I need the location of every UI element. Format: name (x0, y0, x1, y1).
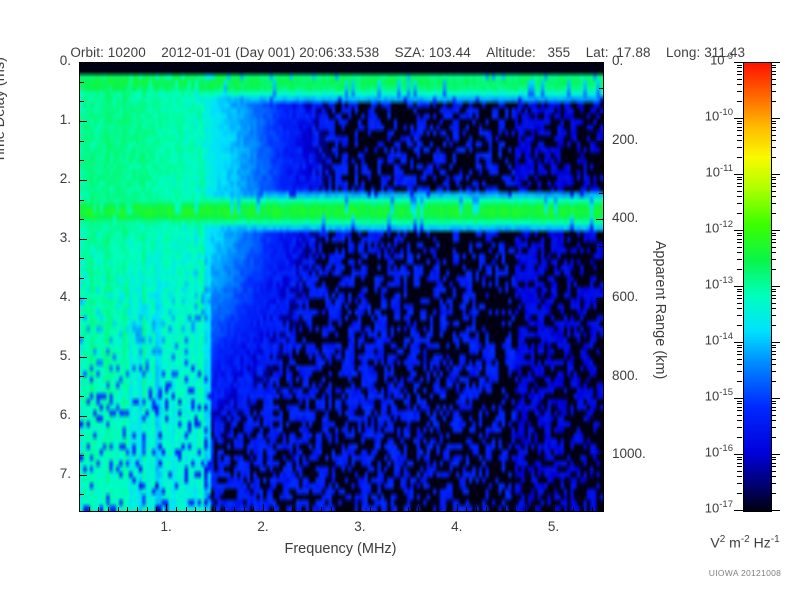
x-tick-minor (118, 507, 119, 511)
x-tick-minor (592, 507, 593, 511)
colorbar-tick-major (734, 174, 743, 175)
y-tick-minor (80, 494, 84, 495)
colorbar-tick-minor (737, 252, 742, 253)
colorbar-tick-minor (771, 347, 776, 348)
y2-tick-label: 1000. (612, 446, 672, 461)
y-tick-minor (80, 396, 84, 397)
colorbar-tick-minor (737, 67, 742, 68)
colorbar-tick-minor (771, 289, 776, 290)
colorbar-tick-minor (771, 463, 776, 464)
colorbar-tick-minor (771, 67, 776, 68)
y2-tick-label: 0. (612, 53, 672, 68)
colorbar-tick-minor (771, 459, 776, 460)
colorbar-tick-minor (737, 183, 742, 184)
colorbar-tick-minor (737, 410, 742, 411)
x-tick-minor (321, 507, 322, 511)
y-tick-label: 4. (23, 289, 71, 304)
colorbar-tick-minor (771, 420, 776, 421)
colorbar-unit-label: V2 m-2 Hz-1 (690, 534, 800, 551)
x-tick-minor (195, 507, 196, 511)
cb-mantissa: 10 (705, 108, 719, 123)
colorbar-tick-minor (737, 298, 742, 299)
colorbar-tick-label: 10-13 (675, 275, 733, 291)
y-tick-major (80, 180, 87, 181)
colorbar-tick-minor (737, 403, 742, 404)
x-tick-major (166, 504, 167, 511)
colorbar-tick-minor (771, 179, 776, 180)
colorbar-tick-minor (771, 315, 776, 316)
colorbar-tick-minor (771, 298, 776, 299)
x-tick-minor (244, 507, 245, 511)
colorbar-tick-minor (771, 407, 776, 408)
colorbar-tick-minor (737, 364, 742, 365)
y-tick-major (80, 298, 87, 299)
colorbar-tick-minor (771, 269, 776, 270)
colorbar-tick-label: 10-11 (675, 163, 733, 179)
colorbar-tick-minor (737, 191, 742, 192)
y2-tick-minor (599, 114, 603, 115)
x-tick-minor (408, 507, 409, 511)
colorbar-tick-minor (737, 308, 742, 309)
colorbar-tick-minor (737, 407, 742, 408)
colorbar-tick-minor (771, 252, 776, 253)
credit-text: UIOWA 20121008 (690, 568, 800, 578)
y-tick-minor (80, 82, 84, 83)
cb-exponent: -10 (719, 107, 733, 118)
cb-exponent: -17 (719, 499, 733, 510)
y2-tick-minor (599, 272, 603, 273)
x-tick-minor (205, 507, 206, 511)
y2-tick-minor (599, 246, 603, 247)
x-tick-minor (437, 507, 438, 511)
x-tick-minor (234, 507, 235, 511)
x-tick-minor (583, 507, 584, 511)
x-tick-minor (525, 507, 526, 511)
colorbar-tick-minor (771, 157, 776, 158)
colorbar-tick-minor (737, 493, 742, 494)
colorbar-tick-major (734, 398, 743, 399)
header-orbit-label: Orbit: (70, 45, 104, 60)
colorbar-tick-minor (771, 259, 776, 260)
y-tick-major (80, 121, 87, 122)
y2-tick-major (596, 219, 603, 220)
colorbar-tick-minor (771, 127, 776, 128)
header-altitude-value: 355 (547, 45, 570, 60)
colorbar-tick-minor (771, 130, 776, 131)
colorbar-tick-minor (737, 457, 742, 458)
cb-exponent: -14 (719, 331, 733, 342)
x-tick-minor (370, 507, 371, 511)
colorbar-tick-minor (771, 123, 776, 124)
colorbar-tick-minor (771, 203, 776, 204)
colorbar-tick-minor (737, 466, 742, 467)
colorbar-tick-major (771, 398, 780, 399)
header-date: 2012-01-01 (161, 45, 231, 60)
x-tick-minor (331, 507, 332, 511)
colorbar-tick-minor (737, 471, 742, 472)
ionogram-plot-area (79, 62, 604, 512)
x-tick-minor (399, 507, 400, 511)
colorbar-tick-minor (771, 354, 776, 355)
unit-m-exp: -2 (741, 534, 750, 545)
cb-mantissa: 10 (705, 276, 719, 291)
x-tick-minor (224, 507, 225, 511)
colorbar-tick-minor (771, 371, 776, 372)
y-tick-minor (80, 160, 84, 161)
colorbar-tick-major (771, 62, 780, 63)
colorbar-tick-minor (771, 74, 776, 75)
y-axis-title: Time Delay (ms) (0, 10, 8, 210)
y-tick-label: 1. (23, 112, 71, 127)
y-tick-major (80, 357, 87, 358)
colorbar-tick-major (734, 286, 743, 287)
cb-mantissa: 10 (705, 332, 719, 347)
x-tick-minor (515, 507, 516, 511)
colorbar-tick-minor (737, 123, 742, 124)
colorbar-tick-minor (771, 471, 776, 472)
colorbar-tick-minor (771, 483, 776, 484)
y-tick-minor (80, 278, 84, 279)
y2-tick-major (596, 62, 603, 63)
colorbar-tick-minor (771, 466, 776, 467)
x-tick-label: 4. (427, 519, 487, 534)
cb-mantissa: 10 (705, 444, 719, 459)
header-time: 20:06:33.538 (299, 45, 379, 60)
y2-tick-label: 200. (612, 132, 672, 147)
x-tick-minor (302, 507, 303, 511)
y-tick-minor (80, 337, 84, 338)
header-sza-value: 103.44 (429, 45, 471, 60)
colorbar-tick-minor (771, 401, 776, 402)
colorbar-tick-major (771, 454, 780, 455)
colorbar-tick-minor (771, 457, 776, 458)
colorbar-tick-major (771, 174, 780, 175)
colorbar-tick-major (734, 62, 743, 63)
colorbar-tick-minor (771, 325, 776, 326)
x-tick-minor (127, 507, 128, 511)
x-tick-minor (350, 507, 351, 511)
x-tick-minor (108, 507, 109, 511)
y-tick-major (80, 239, 87, 240)
colorbar-tick-minor (737, 371, 742, 372)
y-tick-label: 6. (23, 407, 71, 422)
colorbar-tick-minor (771, 71, 776, 72)
colorbar-tick-minor (737, 347, 742, 348)
colorbar-tick-minor (737, 289, 742, 290)
x-tick-minor (534, 507, 535, 511)
unit-hz-exp: -1 (771, 534, 780, 545)
colorbar-tick-minor (771, 140, 776, 141)
colorbar-tick-minor (737, 71, 742, 72)
y2-tick-minor (599, 167, 603, 168)
x-tick-minor (215, 507, 216, 511)
x-tick-minor (389, 507, 390, 511)
colorbar-tick-label: 10-10 (675, 107, 733, 123)
cb-mantissa: 10 (705, 388, 719, 403)
colorbar-tick-minor (771, 427, 776, 428)
y-tick-minor (80, 200, 84, 201)
x-tick-label: 2. (233, 519, 293, 534)
colorbar-tick-label: 10-17 (675, 499, 733, 515)
colorbar-tick-major (734, 454, 743, 455)
x-tick-minor (253, 507, 254, 511)
y2-tick-minor (599, 350, 603, 351)
x-tick-minor (379, 507, 380, 511)
y2-tick-minor (599, 324, 603, 325)
y-tick-label: 7. (23, 466, 71, 481)
cb-exponent: -16 (719, 443, 733, 454)
colorbar-tick-minor (737, 295, 742, 296)
colorbar-tick-minor (737, 291, 742, 292)
colorbar-tick-minor (771, 364, 776, 365)
colorbar-tick-minor (737, 269, 742, 270)
colorbar-tick-minor (737, 325, 742, 326)
x-tick-minor (79, 507, 80, 511)
colorbar-tick-minor (737, 101, 742, 102)
header-sza-label: SZA: (395, 45, 425, 60)
colorbar-tick-minor (737, 247, 742, 248)
cb-mantissa: 10 (710, 52, 724, 67)
y-tick-label: 5. (23, 348, 71, 363)
colorbar-tick-minor (771, 177, 776, 178)
header-lat-label: Lat: (586, 45, 609, 60)
x-tick-minor (292, 507, 293, 511)
y-tick-minor (80, 258, 84, 259)
colorbar-tick-minor (771, 381, 776, 382)
colorbar-tick-minor (737, 354, 742, 355)
colorbar-tick-minor (737, 65, 742, 66)
colorbar-tick-minor (737, 459, 742, 460)
colorbar-tick-label: 10-12 (675, 219, 733, 235)
colorbar-tick-minor (737, 483, 742, 484)
cb-exponent: -15 (719, 387, 733, 398)
x-tick-major (457, 504, 458, 511)
cb-exponent: -9 (725, 51, 733, 62)
colorbar-tick-minor (737, 147, 742, 148)
cb-exponent: -13 (719, 275, 733, 286)
x-tick-minor (98, 507, 99, 511)
colorbar-tick-minor (737, 351, 742, 352)
colorbar-tick-minor (737, 345, 742, 346)
spectrogram-canvas (80, 63, 603, 511)
x-tick-minor (447, 507, 448, 511)
colorbar-tick-minor (737, 130, 742, 131)
colorbar-tick-minor (771, 345, 776, 346)
colorbar-tick-minor (737, 157, 742, 158)
x-tick-minor (176, 507, 177, 511)
colorbar-tick-minor (737, 259, 742, 260)
colorbar-tick-minor (737, 427, 742, 428)
colorbar-tick-minor (771, 233, 776, 234)
x-tick-minor (428, 507, 429, 511)
y-tick-major (80, 416, 87, 417)
y-tick-minor (80, 435, 84, 436)
colorbar-tick-minor (737, 177, 742, 178)
y-tick-minor (80, 101, 84, 102)
x-tick-minor (466, 507, 467, 511)
colorbar-tick-minor (737, 186, 742, 187)
y2-tick-major (596, 141, 603, 142)
x-tick-label: 5. (524, 519, 584, 534)
y2-tick-major (596, 377, 603, 378)
colorbar-tick-minor (771, 415, 776, 416)
y-tick-minor (80, 219, 84, 220)
colorbar-tick-minor (771, 65, 776, 66)
y2-tick-major (596, 455, 603, 456)
y2-tick-minor (599, 403, 603, 404)
colorbar-tick-minor (737, 401, 742, 402)
colorbar-tick-minor (771, 121, 776, 122)
colorbar-tick-minor (737, 303, 742, 304)
x-tick-minor (495, 507, 496, 511)
x-tick-minor (137, 507, 138, 511)
x-tick-minor (186, 507, 187, 511)
colorbar-tick-minor (737, 203, 742, 204)
colorbar-tick-minor (771, 239, 776, 240)
colorbar-tick-minor (737, 91, 742, 92)
y2-tick-minor (599, 88, 603, 89)
colorbar-tick-minor (737, 235, 742, 236)
cb-mantissa: 10 (705, 500, 719, 515)
y-tick-major (80, 62, 87, 63)
x-tick-major (554, 504, 555, 511)
colorbar-tick-minor (771, 242, 776, 243)
unit-v: V (710, 535, 719, 551)
colorbar-tick-minor (771, 291, 776, 292)
colorbar-tick-minor (771, 303, 776, 304)
y-tick-minor (80, 317, 84, 318)
unit-m: m (725, 535, 741, 551)
colorbar-tick-minor (737, 381, 742, 382)
x-tick-minor (476, 507, 477, 511)
x-tick-minor (147, 507, 148, 511)
header-altitude-label: Altitude: (486, 45, 536, 60)
x-tick-minor (282, 507, 283, 511)
y2-tick-label: 600. (612, 289, 672, 304)
colorbar-tick-minor (737, 127, 742, 128)
x-tick-minor (505, 507, 506, 511)
x-tick-minor (573, 507, 574, 511)
colorbar-tick-minor (771, 191, 776, 192)
colorbar-tick-major (734, 118, 743, 119)
ionogram-page: Orbit: 10200 2012-01-01 (Day 001) 20:06:… (0, 0, 800, 600)
colorbar-gradient (744, 63, 771, 511)
colorbar-tick-minor (737, 476, 742, 477)
colorbar-tick-minor (737, 437, 742, 438)
colorbar-tick-minor (771, 295, 776, 296)
y2-tick-minor (599, 482, 603, 483)
y2-tick-minor (599, 193, 603, 194)
x-tick-major (263, 504, 264, 511)
colorbar-tick-minor (737, 84, 742, 85)
colorbar-tick-minor (737, 233, 742, 234)
header-day: (Day 001) (235, 45, 295, 60)
colorbar-tick-minor (771, 351, 776, 352)
y-tick-minor (80, 141, 84, 142)
cb-mantissa: 10 (706, 164, 720, 179)
colorbar-tick-major (734, 342, 743, 343)
colorbar-tick-minor (771, 196, 776, 197)
x-tick-minor (156, 507, 157, 511)
colorbar-tick-major (771, 510, 780, 511)
colorbar-tick-minor (771, 84, 776, 85)
x-tick-minor (418, 507, 419, 511)
y2-tick-label: 400. (612, 210, 672, 225)
colorbar-tick-major (771, 118, 780, 119)
colorbar-tick-minor (737, 74, 742, 75)
x-tick-minor (341, 507, 342, 511)
y2-tick-major (596, 298, 603, 299)
colorbar-tick-minor (737, 121, 742, 122)
colorbar-tick-minor (737, 315, 742, 316)
unit-hz: Hz (750, 535, 771, 551)
colorbar-tick-minor (737, 213, 742, 214)
colorbar-tick-minor (771, 213, 776, 214)
colorbar-tick-minor (737, 135, 742, 136)
colorbar-tick-major (734, 230, 743, 231)
colorbar-tick-minor (737, 420, 742, 421)
colorbar-tick-minor (771, 403, 776, 404)
colorbar-tick-minor (771, 91, 776, 92)
colorbar-tick-minor (771, 247, 776, 248)
colorbar-tick-minor (771, 359, 776, 360)
colorbar-tick-label: 10-16 (675, 443, 733, 459)
cb-mantissa: 10 (705, 220, 719, 235)
colorbar-tick-minor (771, 235, 776, 236)
colorbar-tick-minor (771, 308, 776, 309)
y-tick-label: 3. (23, 230, 71, 245)
x-axis-title: Frequency (MHz) (79, 541, 602, 557)
colorbar-tick-minor (737, 179, 742, 180)
colorbar-tick-major (771, 342, 780, 343)
colorbar-tick-minor (771, 410, 776, 411)
y-tick-major (80, 475, 87, 476)
colorbar-tick-minor (771, 183, 776, 184)
colorbar-tick-minor (771, 186, 776, 187)
colorbar-tick-minor (737, 242, 742, 243)
cb-exponent: -11 (720, 163, 733, 174)
colorbar-tick-major (771, 286, 780, 287)
x-tick-minor (486, 507, 487, 511)
colorbar-tick-label: 10-9 (675, 51, 733, 67)
y2-tick-label: 800. (612, 368, 672, 383)
colorbar-tick-minor (737, 239, 742, 240)
colorbar-tick-label: 10-14 (675, 331, 733, 347)
x-tick-minor (563, 507, 564, 511)
colorbar-tick-minor (737, 463, 742, 464)
y-tick-minor (80, 455, 84, 456)
colorbar-tick-minor (771, 493, 776, 494)
colorbar (743, 62, 772, 512)
colorbar-tick-minor (771, 476, 776, 477)
colorbar-tick-major (771, 230, 780, 231)
x-tick-label: 1. (136, 519, 196, 534)
colorbar-tick-minor (771, 101, 776, 102)
colorbar-tick-minor (737, 359, 742, 360)
y2-axis-title: Apparent Range (km) (652, 200, 668, 420)
header-orbit-value: 10200 (108, 45, 146, 60)
x-tick-major (360, 504, 361, 511)
colorbar-tick-minor (737, 196, 742, 197)
y-tick-label: 0. (23, 53, 71, 68)
colorbar-tick-minor (737, 415, 742, 416)
colorbar-tick-major (734, 510, 743, 511)
x-tick-minor (89, 507, 90, 511)
colorbar-tick-minor (737, 79, 742, 80)
x-tick-minor (602, 507, 603, 511)
colorbar-tick-minor (771, 437, 776, 438)
colorbar-tick-minor (771, 135, 776, 136)
